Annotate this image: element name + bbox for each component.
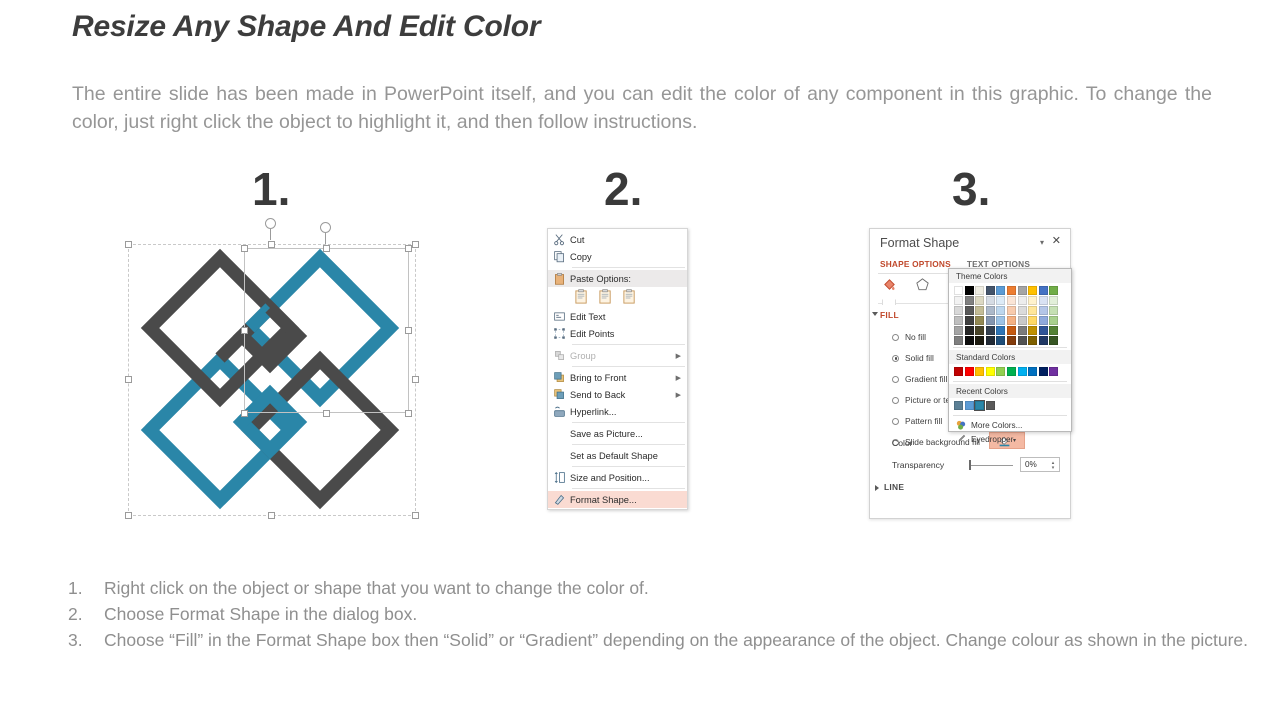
spinner-arrows-icon[interactable]: ▴▾ [1049,459,1057,472]
color-swatch[interactable] [996,336,1005,345]
theme-color-column-5[interactable] [1007,286,1016,345]
menu-item-label: Save as Picture... [570,429,683,439]
menu-separator [572,488,685,489]
more-colors-icon [956,420,966,430]
menu-separator [572,344,685,345]
instruction-text: Right click on the object or shape that … [104,576,1268,602]
menu-item-label: Edit Points [570,329,683,339]
color-swatch[interactable] [996,296,1005,305]
fill-bucket-icon[interactable] [882,277,897,292]
resize-handle-e[interactable] [412,376,419,383]
instruction-number: 2. [68,602,90,628]
color-swatch[interactable] [996,286,1005,295]
menu-item-size-and-position[interactable]: Size and Position... [548,469,687,486]
menu-item-edit-points[interactable]: Edit Points [548,325,687,342]
menu-separator [572,444,685,445]
transparency-value-input[interactable]: 0% ▴▾ [1020,457,1060,472]
color-swatch[interactable] [1007,326,1016,335]
radio-indicator[interactable] [892,355,899,362]
color-swatch[interactable] [1028,286,1037,295]
recent-color-swatch[interactable] [965,401,974,410]
rotate-handle-inner[interactable] [320,222,331,233]
transparency-label: Transparency [892,460,944,470]
resize-handle-se[interactable] [412,512,419,519]
color-swatch[interactable] [975,367,984,376]
theme-color-column-1[interactable] [965,286,974,345]
inner-resize-handle-e[interactable] [405,327,412,334]
color-swatch[interactable] [996,367,1005,376]
menu-item-edit-text[interactable]: Edit Text [548,308,687,325]
radio-gradient-fill[interactable]: Gradient fill [892,374,947,384]
menu-item-copy[interactable]: Copy [548,248,687,265]
theme-color-column-6[interactable] [1018,286,1027,345]
color-swatch[interactable] [986,367,995,376]
group-icon [548,348,570,363]
color-swatch[interactable] [1028,306,1037,315]
color-swatch[interactable] [1018,336,1027,345]
menu-item-label: Edit Text [570,312,683,322]
inner-selection-box[interactable] [244,248,409,413]
color-swatch[interactable] [1018,296,1027,305]
radio-indicator[interactable] [892,397,899,404]
radio-indicator[interactable] [892,376,899,383]
color-swatch[interactable] [954,326,963,335]
color-swatch[interactable] [975,336,984,345]
color-swatch[interactable] [996,306,1005,315]
color-swatch[interactable] [986,336,995,345]
color-swatch[interactable] [1049,296,1058,305]
color-swatch[interactable] [1007,367,1016,376]
format-shape-title: Format Shape [880,236,959,250]
instruction-item: 1.Right click on the object or shape tha… [68,576,1268,602]
recent-colors-row[interactable] [949,398,1071,413]
paste-options-row[interactable] [548,287,687,308]
scissors-icon [548,232,570,247]
instruction-text: Choose “Fill” in the Format Shape box th… [104,628,1268,654]
menu-item-format-shape[interactable]: Format Shape... [548,491,687,508]
menu-item-set-as-default-shape[interactable]: Set as Default Shape [548,447,687,464]
radio-label: Solid fill [905,353,934,363]
color-swatch[interactable] [1049,316,1058,325]
instruction-number: 1. [68,576,90,602]
theme-color-column-4[interactable] [996,286,1005,345]
theme-color-column-7[interactable] [1028,286,1037,345]
resize-handle-ne[interactable] [412,241,419,248]
menu-item-label: Format Shape... [570,495,683,505]
page-subtitle: The entire slide has been made in PowerP… [72,80,1212,137]
instruction-item: 2.Choose Format Shape in the dialog box. [68,602,1268,628]
color-swatch[interactable] [1018,326,1027,335]
color-swatch[interactable] [1039,367,1048,376]
color-swatch[interactable] [1049,306,1058,315]
color-swatch[interactable] [1028,296,1037,305]
color-swatch[interactable] [1007,286,1016,295]
resize-handle-s[interactable] [268,512,275,519]
color-swatch[interactable] [1028,326,1037,335]
theme-colors-label: Theme Colors [949,269,1071,283]
rotate-handle-outer[interactable] [265,218,276,229]
standard-colors-row[interactable] [949,364,1071,379]
color-swatch[interactable] [975,306,984,315]
color-picker-dropdown[interactable]: Theme Colors Standard Colors Recent Colo… [948,268,1072,432]
submenu-arrow-icon: ▶ [676,352,683,360]
color-swatch[interactable] [1039,306,1048,315]
instruction-item: 3.Choose “Fill” in the Format Shape box … [68,628,1268,654]
paste-icon [548,271,570,286]
hyperlink-icon [548,404,570,419]
resize-handle-sw[interactable] [125,512,132,519]
divider [953,347,1067,348]
menu-item-label: Set as Default Shape [570,451,683,461]
menu-item-group: Group▶ [548,347,687,364]
format-shape-icon [548,492,570,507]
color-swatch[interactable] [996,316,1005,325]
chevron-down-icon[interactable]: ▾ [1040,238,1044,247]
menu-item-label: Send to Back [570,390,676,400]
radio-indicator[interactable] [892,334,899,341]
color-swatch[interactable] [1049,326,1058,335]
line-expand-triangle-icon[interactable] [875,485,879,491]
color-swatch[interactable] [965,316,974,325]
eyedropper-label: Eyedropper [971,435,1013,444]
menu-separator [572,267,685,268]
color-swatch[interactable] [954,316,963,325]
inner-resize-handle-s[interactable] [323,410,330,417]
context-menu[interactable]: CutCopyPaste Options:Edit TextEdit Point… [547,228,688,510]
color-swatch[interactable] [965,367,974,376]
menu-item-label: Size and Position... [570,473,683,483]
color-swatch[interactable] [1007,316,1016,325]
resize-handle-w[interactable] [125,376,132,383]
color-swatch[interactable] [975,326,984,335]
color-swatch[interactable] [954,336,963,345]
menu-item-label: Cut [570,235,683,245]
none [548,448,570,463]
color-swatch[interactable] [954,367,963,376]
color-swatch[interactable] [1049,286,1058,295]
color-swatch[interactable] [965,326,974,335]
radio-label: No fill [905,332,926,342]
color-swatch[interactable] [1039,316,1048,325]
menu-item-label: Copy [570,252,683,262]
send-back-icon [548,387,570,402]
fill-expand-triangle-icon[interactable] [872,312,878,316]
theme-color-column-0[interactable] [954,286,963,345]
eyedropper-item[interactable]: Eyedropper [949,432,1071,446]
color-swatch[interactable] [965,306,974,315]
color-swatch[interactable] [975,286,984,295]
radio-no-fill[interactable]: No fill [892,332,926,342]
paste-keep-text-icon[interactable] [574,289,589,305]
step-number-3: 3. [952,166,990,212]
effects-pentagon-icon[interactable] [915,277,930,292]
color-swatch[interactable] [1018,367,1027,376]
color-swatch[interactable] [1039,326,1048,335]
color-label: Color [892,438,913,448]
color-swatch[interactable] [1039,286,1048,295]
radio-pattern-fill[interactable]: Pattern fill [892,416,942,426]
step-number-2: 2. [604,166,642,212]
color-swatch[interactable] [1028,336,1037,345]
submenu-arrow-icon: ▶ [676,391,683,399]
inner-resize-handle-ne[interactable] [405,245,412,252]
color-swatch[interactable] [1018,316,1027,325]
color-swatch[interactable] [986,286,995,295]
color-swatch[interactable] [954,296,963,305]
edit-text-icon [548,309,570,324]
instruction-number: 3. [68,628,90,654]
instruction-text: Choose Format Shape in the dialog box. [104,602,1268,628]
inner-resize-handle-se[interactable] [405,410,412,417]
theme-color-column-9[interactable] [1049,286,1058,345]
color-swatch[interactable] [986,306,995,315]
bring-front-icon [548,370,570,385]
radio-solid-fill[interactable]: Solid fill [892,353,934,363]
fill-section-header[interactable]: FILL [880,310,899,320]
color-swatch[interactable] [1007,296,1016,305]
menu-item-paste-options[interactable]: Paste Options: [548,270,687,287]
color-swatch[interactable] [986,316,995,325]
color-swatch[interactable] [996,326,1005,335]
menu-separator [572,422,685,423]
color-swatch[interactable] [1039,296,1048,305]
radio-label: Pattern fill [905,416,942,426]
paste-picture-icon[interactable] [622,289,637,305]
menu-item-label: Group [570,351,676,361]
menu-item-label: Bring to Front [570,373,676,383]
recent-color-swatch[interactable] [954,401,963,410]
color-swatch[interactable] [1018,286,1027,295]
menu-item-cut[interactable]: Cut [548,231,687,248]
recent-color-swatch[interactable] [975,401,984,410]
menu-item-bring-to-front[interactable]: Bring to Front▶ [548,369,687,386]
color-swatch[interactable] [1007,306,1016,315]
resize-handle-n[interactable] [268,241,275,248]
transparency-value: 0% [1025,460,1037,469]
resize-handle-nw[interactable] [125,241,132,248]
submenu-arrow-icon: ▶ [676,374,683,382]
menu-separator [572,466,685,467]
theme-colors-grid[interactable] [949,283,1071,345]
menu-separator [572,366,685,367]
inner-resize-handle-n[interactable] [323,245,330,252]
color-swatch[interactable] [1018,306,1027,315]
size-position-icon [548,470,570,485]
instruction-list: 1.Right click on the object or shape tha… [68,576,1268,654]
menu-item-label: Hyperlink... [570,407,683,417]
divider [953,381,1067,382]
color-swatch[interactable] [975,316,984,325]
color-swatch[interactable] [965,286,974,295]
color-swatch[interactable] [965,296,974,305]
menu-item-hyperlink[interactable]: Hyperlink... [548,403,687,420]
copy-icon [548,249,570,264]
color-swatch[interactable] [954,306,963,315]
none [548,426,570,441]
line-section-header[interactable]: LINE [884,482,904,492]
theme-color-column-3[interactable] [986,286,995,345]
color-swatch[interactable] [965,336,974,345]
color-swatch[interactable] [1028,367,1037,376]
color-swatch[interactable] [1007,336,1016,345]
shape-illustration-panel[interactable] [120,230,420,526]
close-icon[interactable]: ✕ [1052,234,1061,247]
color-swatch[interactable] [986,326,995,335]
color-swatch[interactable] [1049,367,1058,376]
menu-item-save-as-picture[interactable]: Save as Picture... [548,425,687,442]
radio-indicator[interactable] [892,418,899,425]
more-colors-item[interactable]: More Colors... [949,418,1071,432]
paste-theme-icon[interactable] [598,289,613,305]
active-icon-indicator [882,299,896,305]
color-swatch[interactable] [986,296,995,305]
theme-color-column-2[interactable] [975,286,984,345]
color-swatch[interactable] [975,296,984,305]
eyedropper-icon [956,434,966,444]
more-colors-label: More Colors... [971,421,1022,430]
page-title: Resize Any Shape And Edit Color [72,10,540,44]
step-number-1: 1. [252,166,290,212]
transparency-slider-thumb[interactable] [969,460,971,470]
standard-colors-label: Standard Colors [949,350,1071,364]
color-swatch[interactable] [1049,336,1058,345]
radio-label: Gradient fill [905,374,947,384]
recent-color-swatch[interactable] [986,401,995,410]
tab-shape-options[interactable]: SHAPE OPTIONS [880,259,951,269]
recent-colors-label: Recent Colors [949,384,1071,398]
menu-item-label: Paste Options: [570,274,683,284]
transparency-slider-track[interactable] [971,465,1013,466]
inner-resize-handle-w[interactable] [241,327,248,334]
color-swatch[interactable] [1039,336,1048,345]
inner-resize-handle-sw[interactable] [241,410,248,417]
theme-color-column-8[interactable] [1039,286,1048,345]
divider [953,415,1067,416]
edit-points-icon [548,326,570,341]
color-swatch[interactable] [1028,316,1037,325]
color-swatch[interactable] [954,286,963,295]
inner-resize-handle-nw[interactable] [241,245,248,252]
menu-item-send-to-back[interactable]: Send to Back▶ [548,386,687,403]
